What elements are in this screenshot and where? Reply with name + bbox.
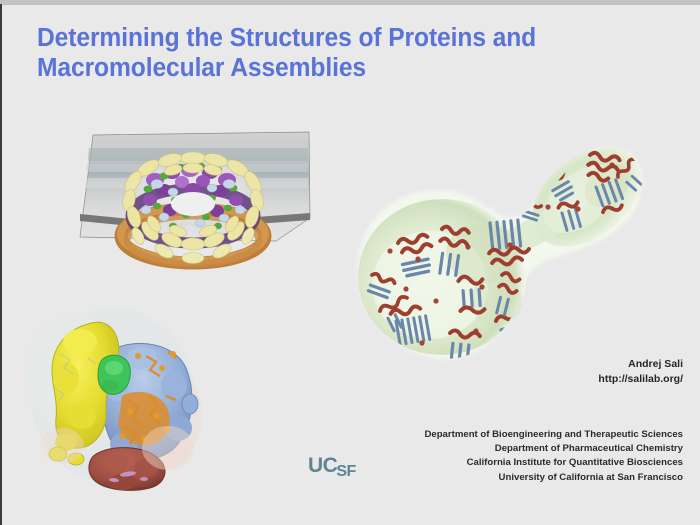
page-title: Determining the Structures of Proteins a… bbox=[37, 23, 635, 83]
nuclear-pore-complex-illustration bbox=[60, 118, 330, 278]
npc-subunits bbox=[121, 151, 265, 263]
window-left-border bbox=[0, 4, 2, 525]
window-top-strip bbox=[0, 0, 700, 5]
subunit-green bbox=[98, 355, 130, 394]
ucsf-logo-uc: UC bbox=[308, 454, 337, 477]
figure-nuclear-pore-complex bbox=[60, 118, 330, 278]
author-name: Andrej Sali bbox=[383, 357, 683, 372]
ucsf-logo-sf: SF bbox=[336, 463, 355, 480]
affiliation-line: Department of Pharmaceutical Chemistry bbox=[343, 442, 683, 456]
affiliation-line: Department of Bioengineering and Therape… bbox=[343, 428, 683, 442]
affiliation-block: Department of Bioengineering and Therape… bbox=[343, 428, 683, 485]
affiliation-line: California Institute for Quantitative Bi… bbox=[343, 456, 683, 470]
ghost-density bbox=[142, 426, 194, 470]
ucsf-logo: UCSF bbox=[308, 455, 357, 476]
slide-canvas: Determining the Structures of Proteins a… bbox=[0, 0, 700, 525]
ghost-density-2 bbox=[40, 428, 84, 464]
figure-yeast-cell bbox=[350, 125, 650, 390]
affiliation-line: University of California at San Francisc… bbox=[343, 471, 683, 485]
author-block: Andrej Sali http://salilab.org/ bbox=[383, 357, 683, 387]
yeast-cell-illustration bbox=[350, 125, 650, 390]
density-map-illustration bbox=[18, 296, 208, 501]
figure-macromolecular-assembly bbox=[18, 296, 208, 501]
author-url[interactable]: http://salilab.org/ bbox=[383, 372, 683, 387]
